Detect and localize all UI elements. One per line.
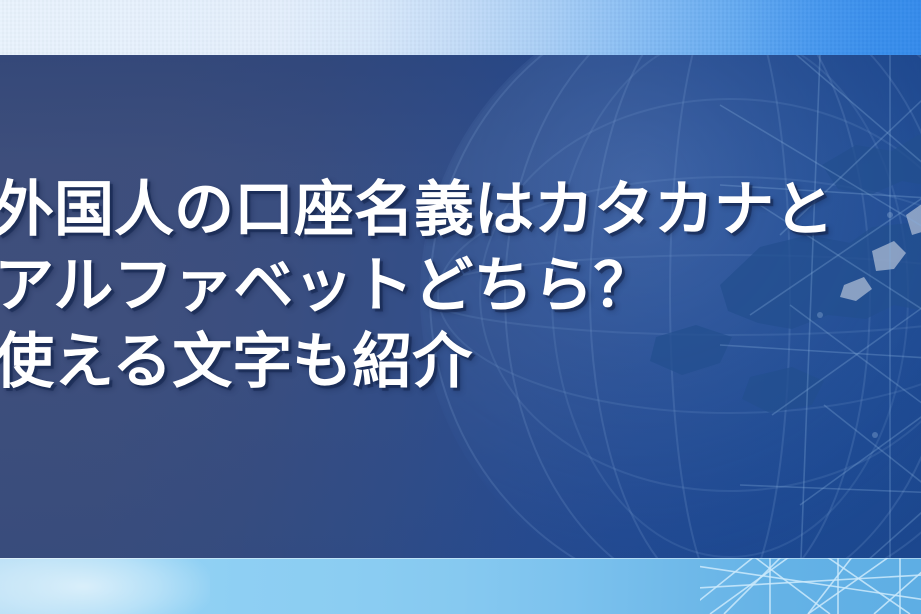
cloud-wisp	[0, 558, 210, 614]
sky-gradient-bottom	[0, 558, 921, 614]
headline-line-1: 外国人の口座名義はカタカナと	[0, 172, 921, 248]
hero-banner: 外国人の口座名義はカタカナと アルファベットどちら？ 使える文字も紹介	[0, 0, 921, 614]
sky-tint-right	[741, 0, 921, 56]
sky-gradient-top	[0, 0, 921, 56]
headline-line-2: アルファベットどちら？	[0, 248, 921, 324]
headline-line-3: 使える文字も紹介	[0, 324, 921, 400]
network-lines-icon	[700, 558, 921, 614]
page-title: 外国人の口座名義はカタカナと アルファベットどちら？ 使える文字も紹介	[0, 172, 921, 400]
